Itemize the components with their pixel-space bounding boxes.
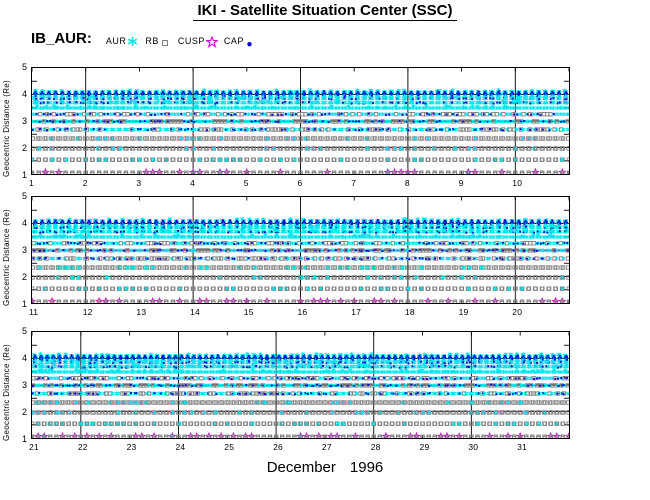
x-tick-label: 11 <box>29 308 38 317</box>
x-tick-label: 30 <box>468 443 478 452</box>
legend-item-cusp: CUSP <box>178 31 217 47</box>
x-tick-label: 15 <box>244 308 254 317</box>
y-tick-label: 1 <box>18 435 27 444</box>
x-tick-label: 31 <box>517 443 527 452</box>
y-tick-label: 2 <box>18 144 27 153</box>
x-tick-label: 8 <box>405 179 410 188</box>
x-tick-label: 5 <box>244 179 249 188</box>
y-tick-label: 3 <box>18 246 27 255</box>
page-title-text: IKI - Satellite Situation Center (SSC) <box>193 2 456 21</box>
y-tick-label: 4 <box>18 90 27 99</box>
legend-item-aur: AUR <box>106 31 139 47</box>
x-tick-label: 21 <box>29 443 39 452</box>
x-tick-label: 29 <box>420 443 430 452</box>
x-tick-label: 16 <box>298 308 308 317</box>
y-tick-label: 4 <box>18 354 27 363</box>
x-tick-label: 27 <box>322 443 332 452</box>
x-tick-label: 13 <box>136 308 146 317</box>
star-marker-icon <box>206 35 217 47</box>
x-tick-label: 25 <box>224 443 234 452</box>
y-tick-label: 3 <box>18 117 27 126</box>
x-tick-label: 4 <box>190 179 195 188</box>
x-tick-label: 12 <box>83 308 93 317</box>
x-tick-label: 10 <box>512 179 522 188</box>
x-tick-label: 2 <box>83 179 88 188</box>
x-tick-label: 23 <box>127 443 137 452</box>
y-tick-label: 2 <box>18 408 27 417</box>
x-tick-label: 1 <box>29 179 34 188</box>
y-tick-label: 1 <box>18 300 27 309</box>
y-axis-label: Geocentric Distance (Re) <box>2 67 11 177</box>
x-tick-label: 28 <box>371 443 381 452</box>
plot-panel-2: Geocentric Distance (Re)5432111121314151… <box>0 196 576 328</box>
x-tick-label: 9 <box>459 179 464 188</box>
plot-panel-1: Geocentric Distance (Re)5432112345678910 <box>0 67 576 199</box>
legend-label-cap: CAP <box>224 36 244 47</box>
legend-item-rb: RB <box>145 31 171 47</box>
x-tick-label: 26 <box>273 443 283 452</box>
y-tick-label: 3 <box>18 381 27 390</box>
legend-label-rb: RB <box>145 36 159 47</box>
plot-area-3 <box>31 331 570 439</box>
x-tick-label: 7 <box>351 179 356 188</box>
legend-label-aur: AUR <box>106 36 127 47</box>
ssc-plot-page: IKI - Satellite Situation Center (SSC) I… <box>0 0 650 500</box>
y-tick-label: 1 <box>18 171 27 180</box>
x-tick-label: 18 <box>405 308 415 317</box>
x-tick-label: 6 <box>298 179 303 188</box>
x-tick-label: 19 <box>459 308 469 317</box>
x-tick-label: 17 <box>351 308 361 317</box>
x-tick-label: 22 <box>78 443 88 452</box>
x-tick-label: 24 <box>175 443 185 452</box>
page-title: IKI - Satellite Situation Center (SSC) <box>0 2 650 21</box>
legend-title: IB_AUR: <box>31 30 92 48</box>
x-tick-label: 20 <box>512 308 522 317</box>
y-tick-label: 5 <box>18 327 27 336</box>
y-axis-label: Geocentric Distance (Re) <box>2 331 11 441</box>
x-tick-label: 3 <box>136 179 141 188</box>
x-tick-label: 14 <box>190 308 200 317</box>
plot-area-1 <box>31 67 570 175</box>
legend: IB_AUR: AUR RB CUS <box>31 30 263 48</box>
x-axis-year: 1996 <box>350 459 383 476</box>
y-tick-label: 5 <box>18 192 27 201</box>
y-tick-label: 5 <box>18 63 27 72</box>
dot-marker-icon <box>245 35 256 47</box>
asterisk-marker-icon <box>127 35 138 47</box>
legend-label-cusp: CUSP <box>178 36 205 47</box>
y-axis-label: Geocentric Distance (Re) <box>2 196 11 306</box>
x-axis-month: December <box>267 459 336 476</box>
y-tick-label: 4 <box>18 219 27 228</box>
x-axis-caption: December1996 <box>0 459 650 476</box>
y-tick-label: 2 <box>18 273 27 282</box>
legend-item-cap: CAP <box>224 31 256 47</box>
plot-area-2 <box>31 196 570 304</box>
square-marker-icon <box>160 35 171 47</box>
plot-panel-3: Geocentric Distance (Re)5432121222324252… <box>0 331 576 463</box>
